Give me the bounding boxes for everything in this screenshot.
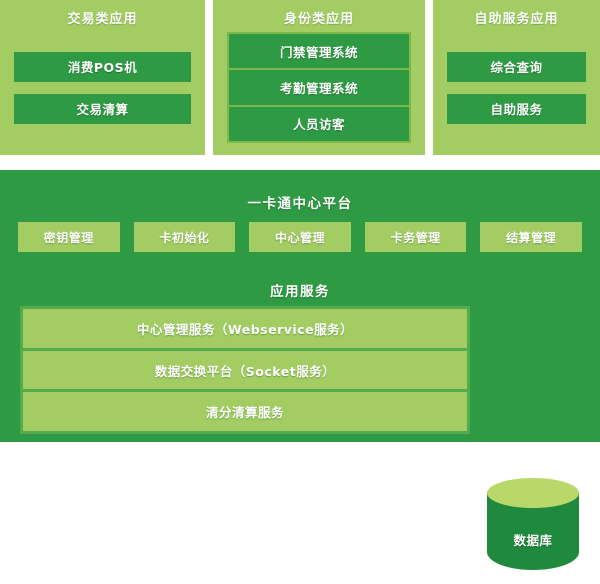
app-item-integrated-query[interactable]: 综合查询 [447,52,586,82]
service-row-clearing-settlement[interactable]: 清分清算服务 [23,392,467,431]
app-item-self-service[interactable]: 自助服务 [447,94,586,124]
application-panel-self-service: 自助服务应用 综合查询 自助服务 [433,0,600,155]
database-cylinder-icon[interactable]: 数据库 [487,478,579,584]
app-item-access-control[interactable]: 门禁管理系统 [229,34,409,68]
app-item-pos[interactable]: 消费POS机 [14,52,191,82]
application-panel-transaction: 交易类应用 消费POS机 交易清算 [0,0,205,155]
database-cylinder-top [487,478,579,508]
panel-title-transaction: 交易类应用 [0,8,205,27]
app-item-transaction-settlement[interactable]: 交易清算 [14,94,191,124]
module-settlement-management[interactable]: 结算管理 [480,222,582,252]
module-key-management[interactable]: 密钥管理 [18,222,120,252]
panel-body-self-service: 综合查询 自助服务 [447,32,586,143]
service-row-center-management-webservice[interactable]: 中心管理服务（Webservice服务） [23,309,467,348]
module-card-service-management[interactable]: 卡务管理 [365,222,467,252]
module-card-initialization[interactable]: 卡初始化 [134,222,236,252]
database-label: 数据库 [487,530,579,549]
application-panel-identity: 身份类应用 门禁管理系统 考勤管理系统 人员访客 [213,0,425,155]
application-services-title: 应用服务 [0,280,600,300]
module-center-management[interactable]: 中心管理 [249,222,351,252]
center-platform-block: 一卡通中心平台 密钥管理 卡初始化 中心管理 卡务管理 结算管理 应用服务 中心… [0,170,600,442]
architecture-diagram: 交易类应用 消费POS机 交易清算 身份类应用 门禁管理系统 考勤管理系统 人员… [0,0,600,450]
app-item-visitor[interactable]: 人员访客 [229,107,409,141]
app-item-attendance[interactable]: 考勤管理系统 [229,70,409,104]
panel-title-identity: 身份类应用 [213,8,425,27]
panel-body-identity: 门禁管理系统 考勤管理系统 人员访客 [227,32,411,143]
application-services-stack: 中心管理服务（Webservice服务） 数据交换平台（Socket服务） 清分… [20,306,470,434]
panel-title-self-service: 自助服务应用 [433,8,600,27]
center-platform-modules: 密钥管理 卡初始化 中心管理 卡务管理 结算管理 [18,222,582,252]
panel-body-transaction: 消费POS机 交易清算 [14,32,191,143]
service-row-data-exchange-socket[interactable]: 数据交换平台（Socket服务） [23,351,467,390]
center-platform-title: 一卡通中心平台 [0,192,600,212]
